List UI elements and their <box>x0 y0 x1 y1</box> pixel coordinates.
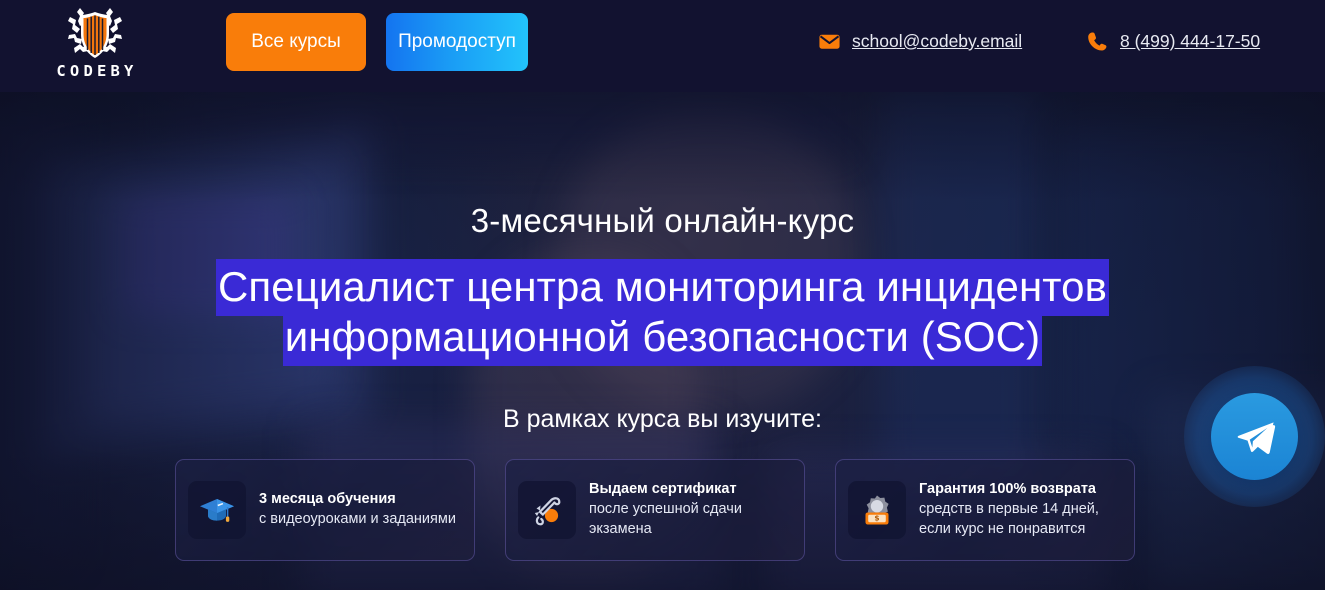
email-link[interactable]: school@codeby.email <box>818 30 1022 53</box>
card-desc: средств в первые 14 дней, если курс не п… <box>919 500 1124 539</box>
telegram-chat-button[interactable] <box>1211 393 1298 480</box>
card-text: Гарантия 100% возврата средств в первые … <box>919 480 1124 539</box>
card-text: Выдаем сертификат после успешной сдачи э… <box>589 480 794 539</box>
title-line-2-wrap: информационной безопасности (SOC) <box>0 312 1325 362</box>
telegram-paper-plane-icon <box>1234 415 1278 459</box>
money-back-icon: $ <box>857 490 897 530</box>
logo-wordmark: CODEBY <box>52 64 137 80</box>
hero-section: 3-месячный онлайн-курс Специалист центра… <box>0 92 1325 590</box>
site-logo[interactable]: CODEBY <box>36 4 154 88</box>
promo-access-button[interactable]: Промодоступ <box>386 13 528 71</box>
hero-kicker: 3-месячный онлайн-курс <box>0 202 1325 240</box>
phone-link[interactable]: 8 (499) 444-17-50 <box>1086 30 1260 53</box>
card-text: 3 месяца обучения с видеоуроками и задан… <box>259 490 456 529</box>
page-root: CODEBY Все курсы Промодоступ school@code… <box>0 0 1325 590</box>
feature-cards: 3 месяца обучения с видеоуроками и задан… <box>175 459 1150 561</box>
svg-text:$: $ <box>874 514 879 523</box>
title-line-1-wrap: Специалист центра мониторинга инцидентов <box>0 262 1325 312</box>
title-line-2: информационной безопасности (SOC) <box>283 309 1042 366</box>
card-icon-tile: $ <box>848 481 906 539</box>
telegram-fab-wrapper <box>1184 366 1325 507</box>
envelope-icon <box>818 30 841 53</box>
card-desc: с видеоуроками и заданиями <box>259 510 456 530</box>
site-header: CODEBY Все курсы Промодоступ school@code… <box>0 0 1325 92</box>
hero-subtitle: В рамках курса вы изучите: <box>0 405 1325 434</box>
hero-content: 3-месячный онлайн-курс Специалист центра… <box>0 92 1325 590</box>
page-title: Специалист центра мониторинга инцидентов… <box>0 262 1325 361</box>
email-text: school@codeby.email <box>852 31 1022 52</box>
phone-icon <box>1086 30 1109 53</box>
feature-card-certificate: Выдаем сертификат после успешной сдачи э… <box>505 459 805 561</box>
certificate-scroll-icon <box>527 490 567 530</box>
feature-card-guarantee: $ Гарантия 100% возврата средств в первы… <box>835 459 1135 561</box>
all-courses-button[interactable]: Все курсы <box>226 13 366 71</box>
title-line-1: Специалист центра мониторинга инцидентов <box>216 259 1109 316</box>
graduation-cap-icon <box>197 490 237 530</box>
spider-shield-logo-icon <box>60 4 130 62</box>
card-icon-tile <box>518 481 576 539</box>
card-title: 3 месяца обучения <box>259 490 456 510</box>
card-icon-tile <box>188 481 246 539</box>
feature-card-duration: 3 месяца обучения с видеоуроками и задан… <box>175 459 475 561</box>
card-title: Выдаем сертификат <box>589 480 794 500</box>
phone-text: 8 (499) 444-17-50 <box>1120 31 1260 52</box>
card-title: Гарантия 100% возврата <box>919 480 1124 500</box>
card-desc: после успешной сдачи экзамена <box>589 500 794 539</box>
